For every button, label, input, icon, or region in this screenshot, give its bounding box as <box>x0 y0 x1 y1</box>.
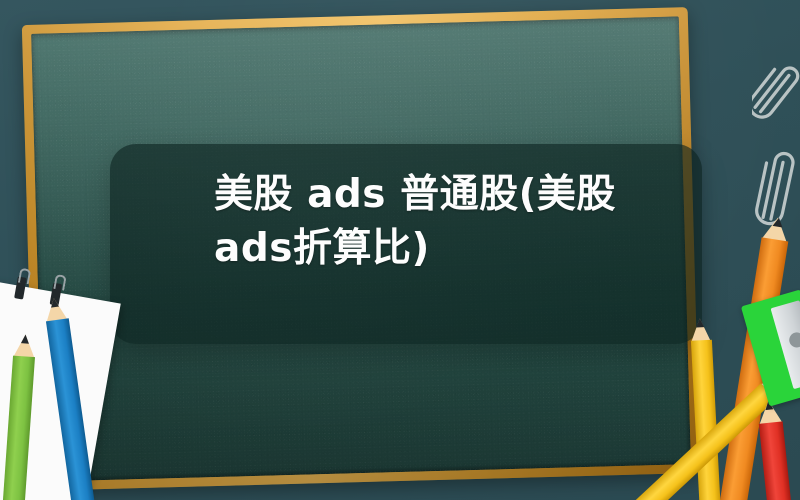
pencil-lead <box>20 334 29 344</box>
pencil-lead <box>696 318 704 327</box>
page-title: 美股 ads 普通股(美股ads折算比) <box>214 168 634 276</box>
pencil-lead <box>772 217 783 227</box>
paperclip-top-icon <box>752 52 800 130</box>
title-panel: 美股 ads 普通股(美股ads折算比) <box>110 144 702 344</box>
pencil-lead <box>50 298 59 308</box>
chalkboard-scene: 美股 ads 普通股(美股ads折算比) <box>0 0 800 500</box>
